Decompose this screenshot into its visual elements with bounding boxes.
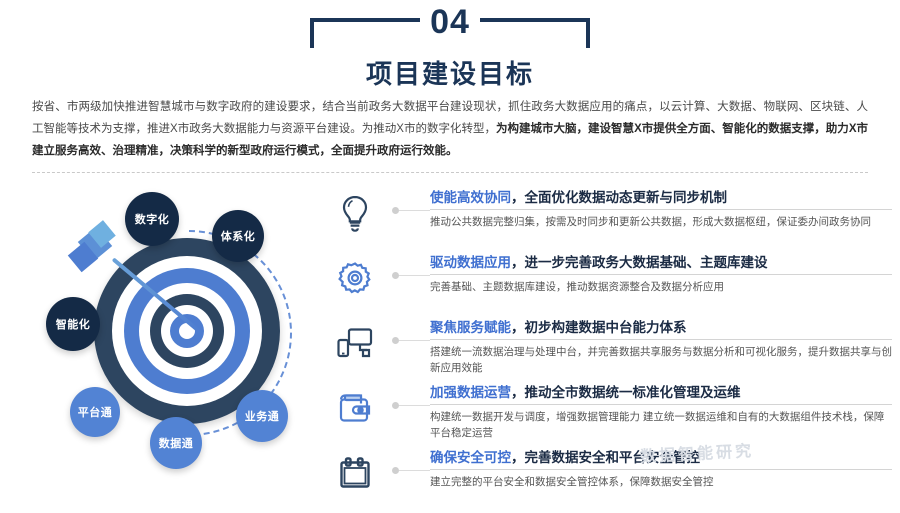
intro-paragraph: 按省、市两级加快推进智慧城市与数字政府的建设要求，结合当前政务大数据平台建设现状…: [32, 96, 868, 162]
target-diagram: 数字化 体系化 智能化 平台通 数据通 业务通: [28, 182, 328, 492]
section-number: 04: [310, 2, 590, 42]
goal-rule: [430, 274, 892, 275]
goal-title-highlight: 聚焦服务赋能: [430, 320, 511, 335]
goal-title-rest: ，全面优化数据动态更新与同步机制: [511, 190, 727, 205]
gear-icon: [332, 255, 378, 301]
goal-body: 驱动数据应用，进一步完善政务大数据基础、主题库建设 完善基础、主题数据库建设，推…: [390, 253, 892, 295]
goal-body: 确保安全可控，完善数据安全和平台安全管控 建立完整的平台安全和数据安全管控体系，…: [390, 448, 892, 490]
slide-root: 04 项目建设目标 按省、市两级加快推进智慧城市与数字政府的建设要求，结合当前政…: [0, 0, 900, 505]
goal-description: 构建统一数据开发与调度，增强数据管理能力 建立统一数据运维和自有的大数据组件技术…: [430, 409, 892, 441]
goal-row[interactable]: 使能高效协同，全面优化数据动态更新与同步机制 推动公共数据完整归集，按需及时同步…: [330, 188, 892, 250]
section-number-frame: 04: [310, 10, 590, 50]
goal-description: 完善基础、主题数据库建设，推动数据资源整合及数据分析应用: [430, 279, 892, 295]
goal-row[interactable]: 确保安全可控，完善数据安全和平台安全管控 建立完整的平台安全和数据安全管控体系，…: [330, 448, 892, 510]
goal-title: 加强数据运营，推动全市数据统一标准化管理及运维: [430, 383, 892, 402]
goal-body: 使能高效协同，全面优化数据动态更新与同步机制 推动公共数据完整归集，按需及时同步…: [390, 188, 892, 230]
goal-rule: [430, 339, 892, 340]
goal-description: 建立完整的平台安全和数据安全管控体系，保障数据安全管控: [430, 474, 892, 490]
target-bubble-digital[interactable]: 数字化: [125, 192, 179, 246]
section-divider: [32, 172, 868, 173]
wallet-icon: [332, 385, 378, 431]
goal-rule: [430, 469, 892, 470]
goal-title-highlight: 使能高效协同: [430, 190, 511, 205]
target-bubble-platform[interactable]: 平台通: [70, 387, 120, 437]
goal-body: 聚焦服务赋能，初步构建数据中台能力体系 搭建统一流数据治理与处理中台，并完善数据…: [390, 318, 892, 376]
target-bubble-business[interactable]: 业务通: [236, 390, 288, 442]
slide-header: 04 项目建设目标: [0, 10, 900, 91]
goal-list: 使能高效协同，全面优化数据动态更新与同步机制 推动公共数据完整归集，按需及时同步…: [330, 188, 892, 513]
devices-icon: [332, 320, 378, 366]
goal-title-rest: ，完善数据安全和平台安全管控: [511, 450, 700, 465]
goal-title-rest: ，推动全市数据统一标准化管理及运维: [511, 385, 741, 400]
goal-rule: [430, 209, 892, 210]
goal-rule: [430, 404, 892, 405]
goal-title-highlight: 驱动数据应用: [430, 255, 511, 270]
goal-title-highlight: 确保安全可控: [430, 450, 511, 465]
goal-title: 驱动数据应用，进一步完善政务大数据基础、主题库建设: [430, 253, 892, 272]
goal-title-rest: ，进一步完善政务大数据基础、主题库建设: [511, 255, 768, 270]
goal-description: 推动公共数据完整归集，按需及时同步和更新公共数据，形成大数据枢纽，保证委办间政务…: [430, 214, 892, 230]
goal-title-rest: ，初步构建数据中台能力体系: [511, 320, 687, 335]
goal-row[interactable]: 驱动数据应用，进一步完善政务大数据基础、主题库建设 完善基础、主题数据库建设，推…: [330, 253, 892, 315]
goal-title: 确保安全可控，完善数据安全和平台安全管控: [430, 448, 892, 467]
goal-row[interactable]: 加强数据运营，推动全市数据统一标准化管理及运维 构建统一数据开发与调度，增强数据…: [330, 383, 892, 445]
goal-description: 搭建统一流数据治理与处理中台，并完善数据共享服务与数据分析和可视化服务，提升数据…: [430, 344, 892, 376]
target-bubble-systemized[interactable]: 体系化: [212, 210, 264, 262]
goal-row[interactable]: 聚焦服务赋能，初步构建数据中台能力体系 搭建统一流数据治理与处理中台，并完善数据…: [330, 318, 892, 380]
calendar-icon: [332, 450, 378, 496]
page-title: 项目建设目标: [0, 54, 900, 91]
goal-title-highlight: 加强数据运营: [430, 385, 511, 400]
target-bubble-intelligent[interactable]: 智能化: [46, 297, 100, 351]
goal-body: 加强数据运营，推动全市数据统一标准化管理及运维 构建统一数据开发与调度，增强数据…: [390, 383, 892, 441]
lightbulb-icon: [332, 190, 378, 236]
goal-title: 使能高效协同，全面优化数据动态更新与同步机制: [430, 188, 892, 207]
goal-title: 聚焦服务赋能，初步构建数据中台能力体系: [430, 318, 892, 337]
target-bubble-data[interactable]: 数据通: [150, 417, 202, 469]
